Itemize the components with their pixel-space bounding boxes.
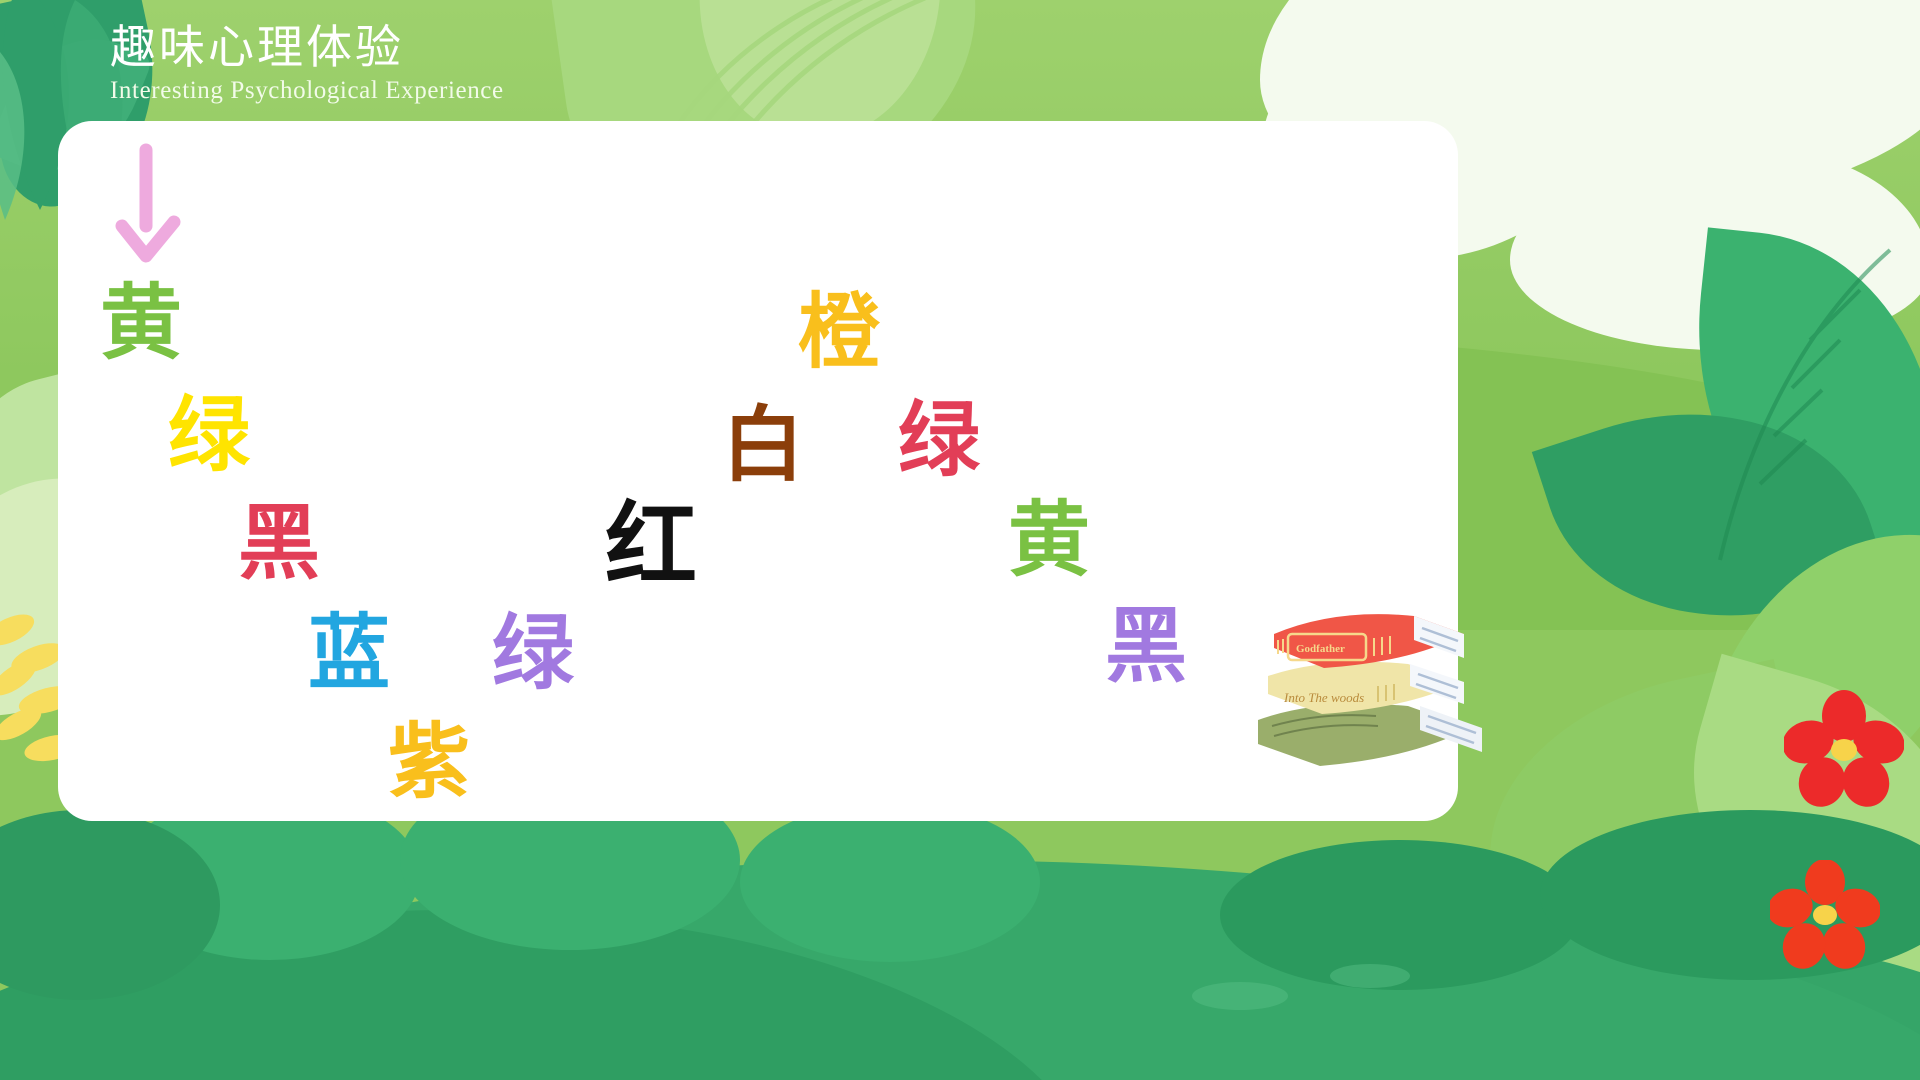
stroop-word-yellow-green: 黄	[100, 283, 182, 365]
book-green	[1258, 704, 1482, 766]
stroop-word-purple-gold: 紫	[388, 722, 470, 804]
stroop-word-yellow-green: 黄	[1008, 500, 1090, 582]
stroop-word-orange-gold: 橙	[798, 292, 880, 374]
stroop-word-black-crimson: 黑	[238, 503, 320, 585]
book-stack-illustration: Into The woods Godfather	[1250, 590, 1490, 790]
stroop-word-black-purple: 黑	[1105, 606, 1187, 688]
decorative-bump-3	[740, 802, 1040, 962]
stroop-word-blue-blue: 蓝	[308, 613, 390, 695]
stroop-word-green-crimson: 绿	[898, 400, 980, 482]
book-spine-text-red: Godfather	[1296, 643, 1345, 655]
page-subtitle: Interesting Psychological Experience	[110, 77, 504, 105]
stroop-word-green-purple: 绿	[492, 613, 574, 695]
book-yellow: Into The woods	[1268, 662, 1464, 714]
red-flower-upper-icon	[1784, 690, 1904, 810]
stroop-word-green-yellow: 绿	[168, 395, 250, 477]
slide-header: 趣味心理体验 Interesting Psychological Experie…	[110, 22, 504, 105]
slide-root: 趣味心理体验 Interesting Psychological Experie…	[0, 0, 1920, 1080]
page-title: 趣味心理体验	[110, 22, 504, 75]
book-red: Godfather	[1274, 614, 1464, 668]
stroop-word-red-black: 红	[605, 500, 697, 592]
red-flower-lower-icon	[1770, 860, 1880, 970]
book-spine-text-yellow: Into The woods	[1283, 690, 1364, 705]
stroop-word-white-brown: 白	[722, 405, 804, 487]
down-arrow-icon	[112, 140, 192, 270]
decorative-grass-dots	[1180, 936, 1480, 1056]
